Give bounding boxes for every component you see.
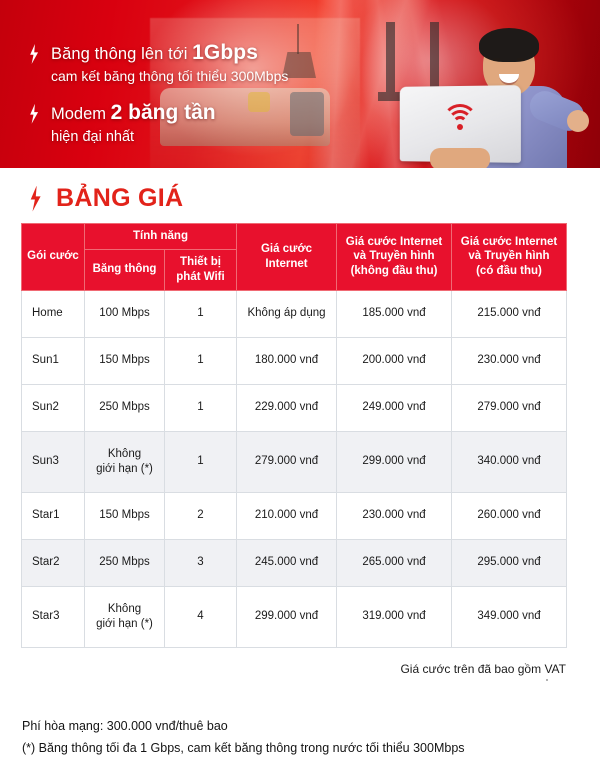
cell-bandwidth: 250 Mbps bbox=[85, 384, 165, 431]
footer-note-asterisk: (*) Băng thông tối đa 1 Gbps, cam kết bă… bbox=[22, 738, 600, 760]
cell-internet-price: 210.000 vnđ bbox=[237, 492, 337, 539]
promo-banner: Băng thông lên tới 1Gbps cam kết băng th… bbox=[0, 0, 600, 168]
banner-copy: Băng thông lên tới 1Gbps cam kết băng th… bbox=[28, 40, 288, 158]
cell-internet-tv-no-receiver: 299.000 vnđ bbox=[337, 431, 452, 492]
cell-internet-price: 229.000 vnđ bbox=[237, 384, 337, 431]
vat-note: Giá cước trên đã bao gồm VAT bbox=[21, 662, 566, 676]
cell-package: Star2 bbox=[22, 539, 85, 586]
cell-bandwidth-line2: giới hạn (*) bbox=[87, 617, 162, 632]
cell-bandwidth: 100 Mbps bbox=[85, 290, 165, 337]
cell-bandwidth-line1: Không bbox=[87, 602, 162, 617]
cell-internet-tv-no-receiver: 230.000 vnđ bbox=[337, 492, 452, 539]
table-row: Star2250 Mbps3245.000 vnđ265.000 vnđ295.… bbox=[22, 539, 567, 586]
cell-wifi-device: 1 bbox=[165, 290, 237, 337]
floor-lamp-pole bbox=[297, 24, 299, 54]
banner-bullet-2-prefix: Modem bbox=[51, 105, 111, 123]
col-header-tv-yes-line2: và Truyền hình bbox=[455, 249, 563, 264]
cell-bandwidth: 150 Mbps bbox=[85, 492, 165, 539]
cell-bandwidth-line2: giới hạn (*) bbox=[87, 462, 162, 477]
col-header-tv-no-line2: và Truyền hình bbox=[340, 249, 448, 264]
cell-package: Sun3 bbox=[22, 431, 85, 492]
cell-internet-tv-no-receiver: 200.000 vnđ bbox=[337, 337, 452, 384]
cell-internet-tv-no-receiver: 185.000 vnđ bbox=[337, 290, 452, 337]
cell-bandwidth: Khônggiới hạn (*) bbox=[85, 586, 165, 647]
footer-note-installation-fee: Phí hòa mạng: 300.000 vnđ/thuê bao bbox=[22, 716, 600, 738]
header-row-top: Gói cước Tính năng Giá cước Internet Giá… bbox=[22, 224, 567, 250]
lightning-bolt-icon bbox=[28, 104, 40, 124]
price-table-container: Gói cước Tính năng Giá cước Internet Giá… bbox=[21, 223, 566, 648]
cell-package: Sun2 bbox=[22, 384, 85, 431]
table-row: Home100 Mbps1Không áp dụng185.000 vnđ215… bbox=[22, 290, 567, 337]
banner-bullet-1-subtext: cam kết băng thông tối thiểu 300Mbps bbox=[51, 68, 288, 86]
cell-internet-price: 180.000 vnđ bbox=[237, 337, 337, 384]
col-header-tv-no-line3: (không đầu thu) bbox=[340, 264, 448, 279]
banner-bullet-1-prefix: Băng thông lên tới bbox=[51, 45, 192, 63]
lightning-bolt-icon bbox=[28, 44, 40, 64]
col-header-internet-tv-with-receiver: Giá cước Internet và Truyền hình (có đầu… bbox=[452, 224, 567, 291]
col-header-internet-price: Giá cước Internet bbox=[237, 224, 337, 291]
cell-bandwidth-line1: Không bbox=[87, 447, 162, 462]
cell-wifi-device: 1 bbox=[165, 431, 237, 492]
stray-dot bbox=[546, 679, 548, 681]
cell-package: Home bbox=[22, 290, 85, 337]
cell-package: Sun1 bbox=[22, 337, 85, 384]
col-header-internet-tv-no-receiver: Giá cước Internet và Truyền hình (không … bbox=[337, 224, 452, 291]
footer-notes: Phí hòa mạng: 300.000 vnđ/thuê bao (*) B… bbox=[22, 716, 600, 760]
table-row: Sun1150 Mbps1180.000 vnđ200.000 vnđ230.0… bbox=[22, 337, 567, 384]
cell-internet-tv-with-receiver: 279.000 vnđ bbox=[452, 384, 567, 431]
banner-bullet-2-strong: 2 băng tần bbox=[111, 101, 216, 124]
cell-internet-tv-no-receiver: 319.000 vnđ bbox=[337, 586, 452, 647]
col-header-tv-yes-line1: Giá cước Internet bbox=[455, 235, 563, 250]
cell-internet-price: 279.000 vnđ bbox=[237, 431, 337, 492]
cell-internet-tv-no-receiver: 249.000 vnđ bbox=[337, 384, 452, 431]
table-row: Star3Khônggiới hạn (*)4299.000 vnđ319.00… bbox=[22, 586, 567, 647]
cell-internet-tv-with-receiver: 340.000 vnđ bbox=[452, 431, 567, 492]
table-row: Sun2250 Mbps1229.000 vnđ249.000 vnđ279.0… bbox=[22, 384, 567, 431]
cell-internet-price: 245.000 vnđ bbox=[237, 539, 337, 586]
cell-wifi-device: 1 bbox=[165, 337, 237, 384]
cell-internet-tv-with-receiver: 215.000 vnđ bbox=[452, 290, 567, 337]
cell-wifi-device: 4 bbox=[165, 586, 237, 647]
cell-internet-price: 299.000 vnđ bbox=[237, 586, 337, 647]
banner-bullet-2-subtext: hiện đại nhất bbox=[51, 128, 216, 147]
col-header-bandwidth: Băng thông bbox=[85, 249, 165, 290]
page-title: BẢNG GIÁ bbox=[56, 184, 183, 213]
banner-bullet-2: Modem 2 băng tần hiện đại nhất bbox=[28, 100, 288, 146]
col-header-wifi-device: Thiết bị phát Wifi bbox=[165, 249, 237, 290]
col-header-tv-no-line1: Giá cước Internet bbox=[340, 235, 448, 250]
col-header-tv-yes-line3: (có đầu thu) bbox=[455, 264, 563, 279]
cell-bandwidth: 150 Mbps bbox=[85, 337, 165, 384]
cell-internet-price: Không áp dụng bbox=[237, 290, 337, 337]
price-table: Gói cước Tính năng Giá cước Internet Giá… bbox=[21, 223, 567, 648]
cell-internet-tv-with-receiver: 295.000 vnđ bbox=[452, 539, 567, 586]
price-table-body: Home100 Mbps1Không áp dụng185.000 vnđ215… bbox=[22, 290, 567, 647]
col-header-package: Gói cước bbox=[22, 224, 85, 291]
cell-bandwidth: 250 Mbps bbox=[85, 539, 165, 586]
cell-internet-tv-with-receiver: 349.000 vnđ bbox=[452, 586, 567, 647]
cell-wifi-device: 3 bbox=[165, 539, 237, 586]
cell-internet-tv-with-receiver: 230.000 vnđ bbox=[452, 337, 567, 384]
cell-package: Star1 bbox=[22, 492, 85, 539]
cell-package: Star3 bbox=[22, 586, 85, 647]
wifi-icon bbox=[442, 104, 478, 134]
hands-graphic bbox=[430, 148, 490, 168]
col-header-features-group: Tính năng bbox=[85, 224, 237, 250]
table-row: Sun3Khônggiới hạn (*)1279.000 vnđ299.000… bbox=[22, 431, 567, 492]
col-header-internet-price-line2: Internet bbox=[240, 257, 333, 272]
banner-bullet-1-strong: 1Gbps bbox=[192, 41, 258, 64]
cell-bandwidth: Khônggiới hạn (*) bbox=[85, 431, 165, 492]
col-header-wifi-device-line2: phát Wifi bbox=[168, 270, 233, 285]
cell-internet-tv-with-receiver: 260.000 vnđ bbox=[452, 492, 567, 539]
price-table-head: Gói cước Tính năng Giá cước Internet Giá… bbox=[22, 224, 567, 291]
cell-wifi-device: 2 bbox=[165, 492, 237, 539]
banner-bullet-1: Băng thông lên tới 1Gbps cam kết băng th… bbox=[28, 40, 288, 86]
col-header-wifi-device-line1: Thiết bị bbox=[168, 255, 233, 270]
cell-wifi-device: 1 bbox=[165, 384, 237, 431]
table-row: Star1150 Mbps2210.000 vnđ230.000 vnđ260.… bbox=[22, 492, 567, 539]
section-title-row: BẢNG GIÁ bbox=[28, 184, 600, 213]
col-header-internet-price-line1: Giá cước bbox=[240, 242, 333, 257]
throw-blanket-graphic bbox=[290, 92, 324, 136]
cell-internet-tv-no-receiver: 265.000 vnđ bbox=[337, 539, 452, 586]
lightning-bolt-icon bbox=[28, 186, 43, 212]
